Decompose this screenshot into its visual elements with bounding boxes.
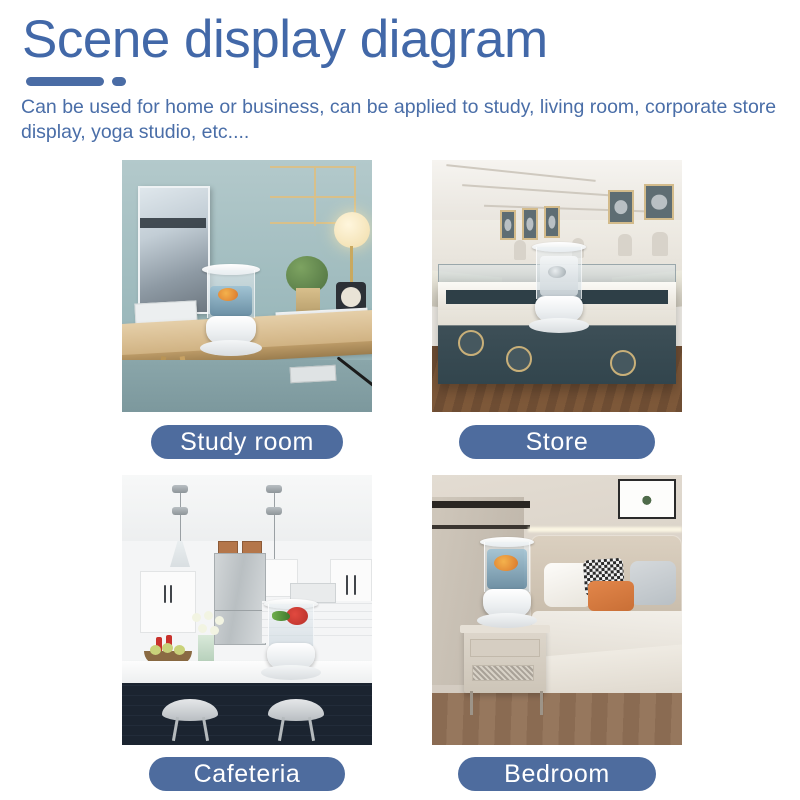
pendant-light-wire <box>180 489 181 541</box>
wall-outlet <box>290 365 337 383</box>
title-accent-dot <box>112 77 126 86</box>
scene-photo-bedroom <box>432 475 682 745</box>
wall-niche <box>608 190 634 224</box>
device-fish <box>494 555 518 571</box>
island-base-panel <box>122 683 372 745</box>
tulip <box>198 624 207 633</box>
fruit <box>150 645 161 655</box>
ceiling <box>122 475 372 547</box>
pendant-light-canopy <box>266 507 282 515</box>
pendant-light-canopy <box>172 485 188 493</box>
tulip <box>204 611 213 620</box>
gray-pillow <box>630 561 676 605</box>
scene-card-store[interactable]: Store <box>432 160 682 459</box>
pendant-light-wire <box>274 489 275 567</box>
scene-display-page: Scene display diagram Can be used for ho… <box>0 0 800 800</box>
device-tray <box>529 318 589 333</box>
jewelry-bust <box>652 232 668 256</box>
nightstand-mesh-panel <box>472 665 534 681</box>
jewelry-bust <box>618 234 632 256</box>
desk-clock-face <box>341 287 361 307</box>
cabinet-handle <box>170 585 172 603</box>
display-device <box>476 537 538 631</box>
cabinet-handle <box>346 575 348 595</box>
scene-card-bedroom[interactable]: Bedroom <box>432 475 682 791</box>
scene-photo-study-room <box>122 160 372 412</box>
marble-island-top <box>122 661 372 685</box>
tulip <box>210 626 219 635</box>
tulip <box>192 613 201 622</box>
gold-medallion <box>506 346 532 372</box>
orange-cushion <box>588 581 634 611</box>
device-tray <box>477 613 537 628</box>
device-fish <box>218 288 238 301</box>
scene-card-study-room[interactable]: Study room <box>122 160 372 459</box>
scene-photo-store <box>432 160 682 412</box>
nightstand-drawer <box>470 639 540 657</box>
pendant-light-canopy <box>172 507 188 515</box>
wall-niche <box>522 208 538 240</box>
display-device <box>198 264 264 360</box>
glass-vase <box>198 635 214 663</box>
poster-text-band <box>140 218 206 228</box>
device-tray <box>200 340 262 356</box>
gold-medallion <box>610 350 636 376</box>
device-fish <box>548 266 566 278</box>
scene-card-cafeteria[interactable]: Cafeteria <box>122 475 372 791</box>
display-device <box>528 242 590 334</box>
page-subtitle: Can be used for home or business, can be… <box>21 95 791 145</box>
fruit <box>162 643 173 653</box>
display-device <box>260 599 322 685</box>
cabinet-handle <box>164 585 166 603</box>
wall-niche <box>544 206 560 238</box>
fruit <box>174 645 185 655</box>
nightstand <box>464 627 546 693</box>
title-accent-bar <box>26 77 104 86</box>
wall-niche <box>500 210 516 240</box>
floor-lamp-globe <box>334 212 370 248</box>
scene-label-cafeteria[interactable]: Cafeteria <box>149 757 345 791</box>
cabinet-handle <box>354 575 356 595</box>
device-vegetable-greens <box>272 611 290 621</box>
gold-medallion <box>458 330 484 356</box>
device-tray <box>261 665 321 680</box>
jewelry-bust <box>514 240 526 260</box>
wall-trim <box>432 501 530 508</box>
page-title: Scene display diagram <box>22 10 548 70</box>
framed-wall-art <box>618 479 676 519</box>
tulip <box>215 616 224 625</box>
nightstand-leg <box>540 691 543 715</box>
wall-trim <box>432 525 530 529</box>
scene-label-bedroom[interactable]: Bedroom <box>458 757 656 791</box>
scene-photo-cafeteria <box>122 475 372 745</box>
headboard-backlight <box>528 527 682 532</box>
scene-label-study-room[interactable]: Study room <box>151 425 343 459</box>
pendant-light-canopy <box>266 485 282 493</box>
nightstand-leg <box>470 691 473 715</box>
scene-label-store[interactable]: Store <box>459 425 655 459</box>
wall-niche <box>644 184 674 220</box>
